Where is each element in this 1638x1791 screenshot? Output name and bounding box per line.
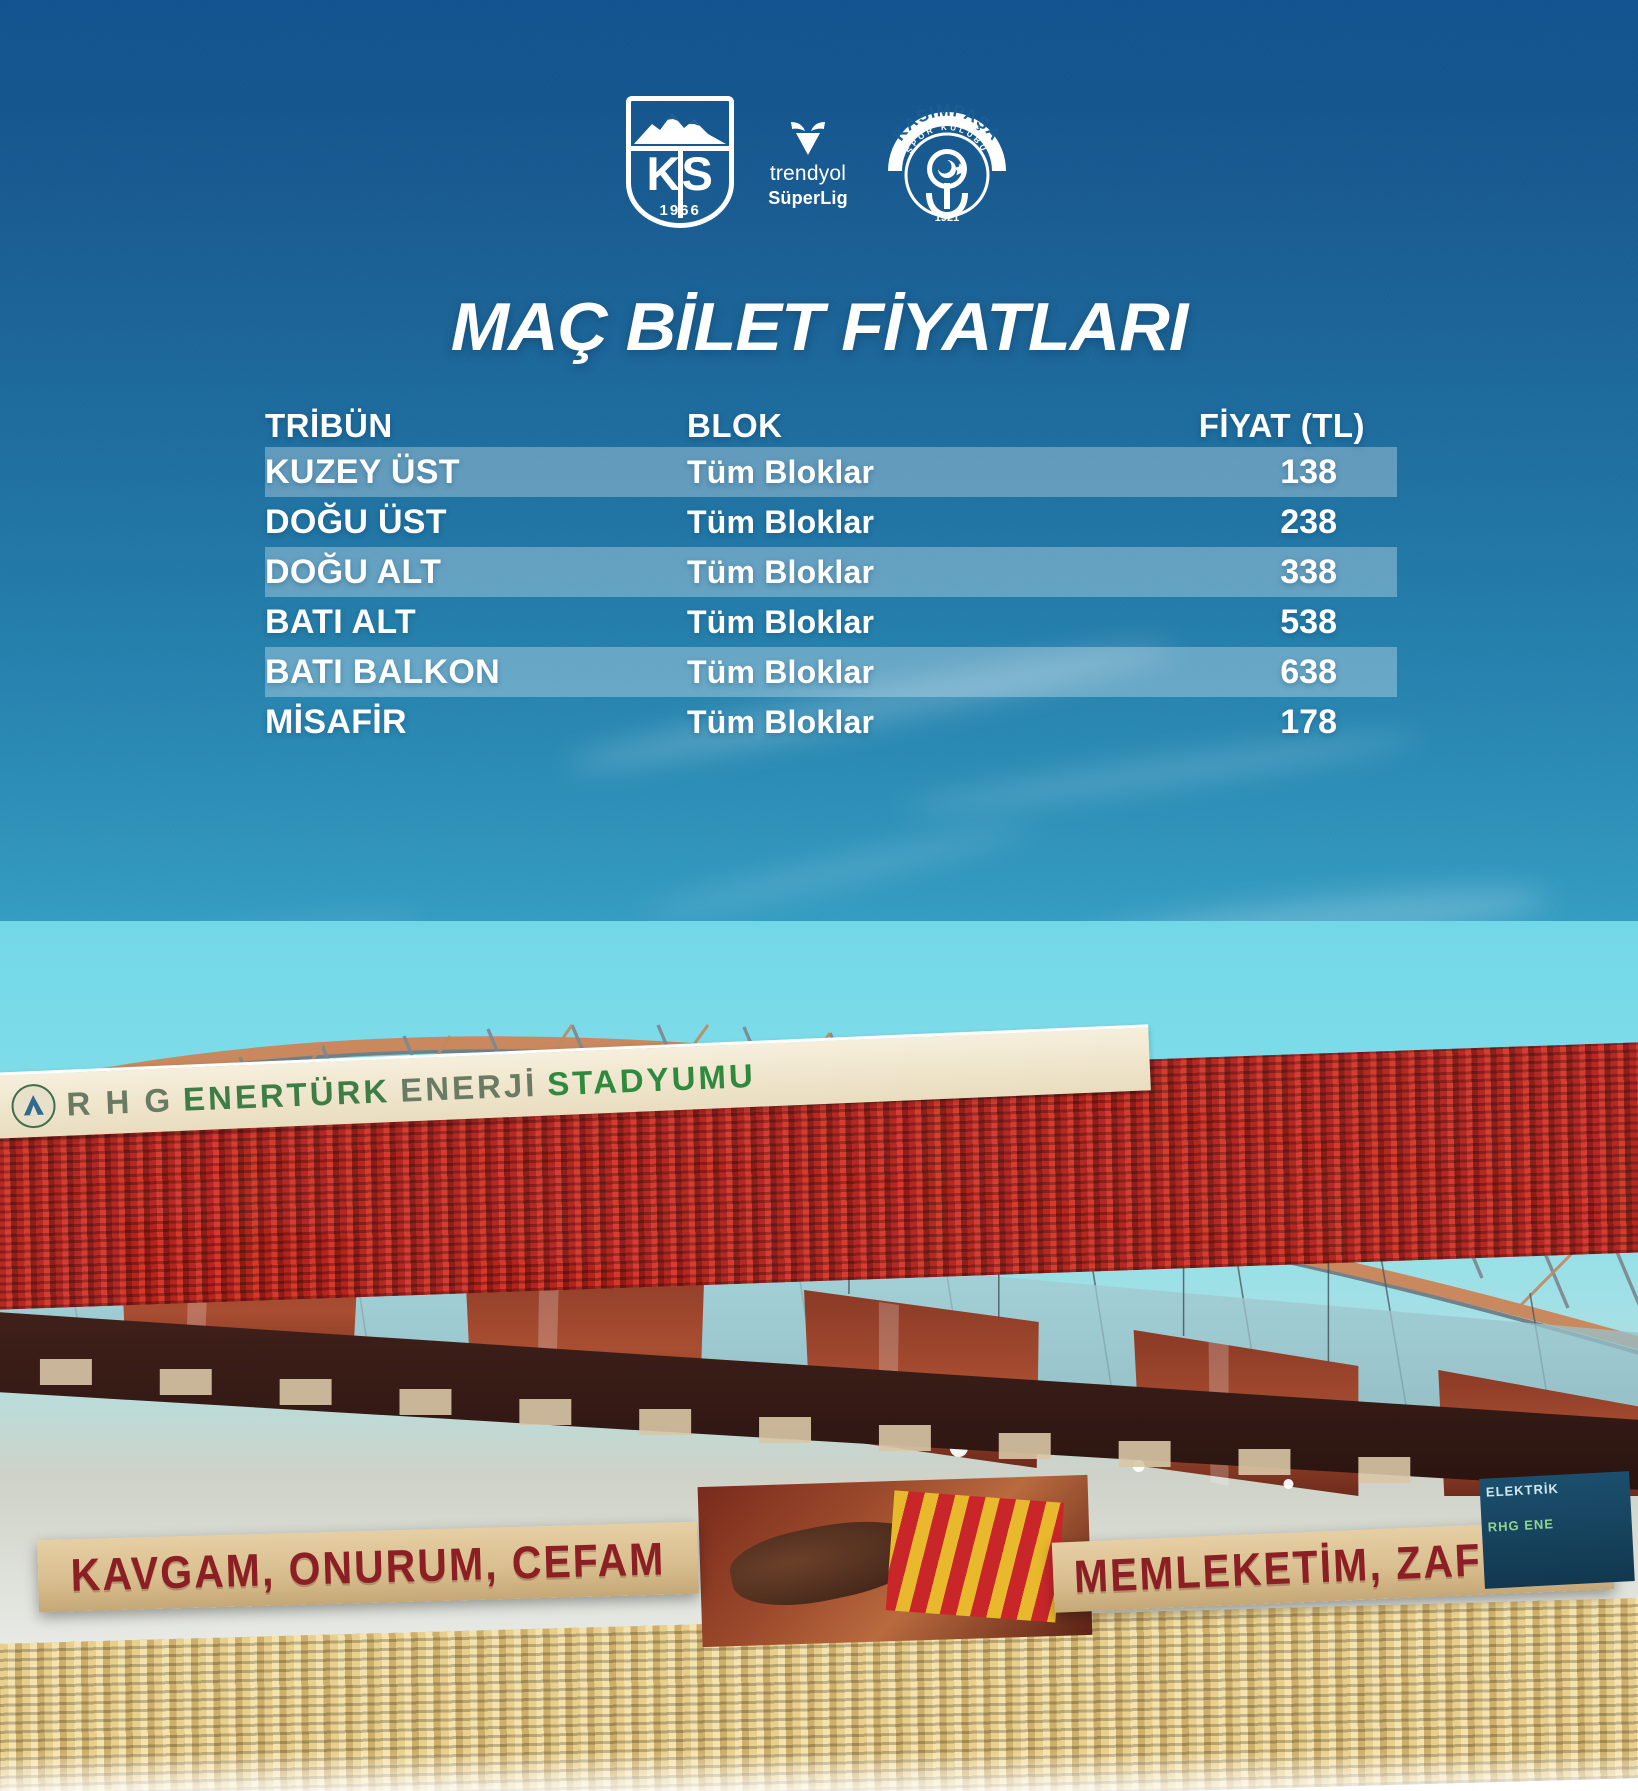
cell-blok: Tüm Bloklar <box>665 604 1045 641</box>
cell-tribun: BATI ALT <box>265 603 665 642</box>
cell-tribun: KUZEY ÜST <box>265 453 665 492</box>
cell-tribun: MİSAFİR <box>265 703 665 742</box>
league-sponsor-name: trendyol <box>770 163 846 184</box>
cell-fiyat: 638 <box>1045 653 1375 692</box>
led-text-part3: ENERJİ <box>399 1065 538 1109</box>
cell-fiyat: 138 <box>1045 453 1375 492</box>
fan-banner-left-text: KAVGAM, ONURUM, CEFAM <box>70 1532 666 1601</box>
led-text-part4: STADYUMU <box>547 1056 757 1103</box>
anchor-crescent-star-icon: KASIMPAŞA SPOR KULÜBÜ 1921 <box>882 97 1012 227</box>
cell-fiyat: 538 <box>1045 603 1375 642</box>
column-header-fiyat: FİYAT (TL) <box>1045 407 1375 445</box>
cell-blok: Tüm Bloklar <box>665 454 1045 491</box>
ad-board-line2: RHG ENE <box>1487 1512 1626 1534</box>
table-row: BATI ALT Tüm Bloklar 538 <box>265 597 1375 647</box>
table-header-row: TRİBÜN BLOK FİYAT (TL) <box>265 405 1375 447</box>
league-name: SüperLig <box>768 189 848 207</box>
cell-fiyat: 178 <box>1045 703 1375 742</box>
stadium-photo: R H G ENERTÜRK ENERJİ STADYUMU KAVGAM, O… <box>0 921 1638 1791</box>
cell-blok: Tüm Bloklar <box>665 654 1045 691</box>
mountain-icon <box>632 106 728 148</box>
trendyol-mark-icon <box>787 118 829 158</box>
cell-tribun: DOĞU ÜST <box>265 503 665 542</box>
table-row: DOĞU ALT Tüm Bloklar 338 <box>265 547 1375 597</box>
svg-text:1921: 1921 <box>935 212 959 224</box>
cell-tribun: BATI BALKON <box>265 653 665 692</box>
cell-tribun: DOĞU ALT <box>265 553 665 592</box>
led-text-part2: ENERTÜRK <box>182 1072 391 1119</box>
logo-row: KS 1966 trendyol SüperLig <box>0 96 1638 228</box>
cell-fiyat: 238 <box>1045 503 1375 542</box>
home-club-founded-year: 1966 <box>626 202 734 219</box>
league-logo: trendyol SüperLig <box>768 118 848 207</box>
lower-stand-fade <box>0 1751 1638 1791</box>
home-club-crest: KS 1966 <box>626 96 734 228</box>
cell-fiyat: 338 <box>1045 553 1375 592</box>
cell-blok: Tüm Bloklar <box>665 704 1045 741</box>
away-club-crest: KASIMPAŞA SPOR KULÜBÜ 1921 <box>882 97 1012 227</box>
column-header-blok: BLOK <box>665 407 1045 445</box>
cell-blok: Tüm Bloklar <box>665 554 1045 591</box>
home-club-initials: KS <box>626 150 734 197</box>
price-table: TRİBÜN BLOK FİYAT (TL) KUZEY ÜST Tüm Blo… <box>265 405 1375 747</box>
table-row: MİSAFİR Tüm Bloklar 178 <box>265 697 1375 747</box>
column-header-tribun: TRİBÜN <box>265 407 665 445</box>
sponsor-logo-icon <box>10 1082 58 1130</box>
table-row: BATI BALKON Tüm Bloklar 638 <box>265 647 1375 697</box>
ad-board-line1: ELEKTRİK <box>1486 1477 1625 1499</box>
page-title: MAÇ BİLET FİYATLARI <box>0 288 1638 366</box>
led-text-part1: R H G <box>66 1081 174 1123</box>
cell-blok: Tüm Bloklar <box>665 504 1045 541</box>
ticket-price-poster: KS 1966 trendyol SüperLig <box>0 0 1638 1791</box>
table-row: KUZEY ÜST Tüm Bloklar 138 <box>265 447 1375 497</box>
side-ad-board: ELEKTRİK RHG ENE <box>1479 1471 1635 1589</box>
table-row: DOĞU ÜST Tüm Bloklar 238 <box>265 497 1375 547</box>
crowd-tifo-display <box>698 1475 1093 1647</box>
tifo-scarf <box>886 1490 1064 1622</box>
